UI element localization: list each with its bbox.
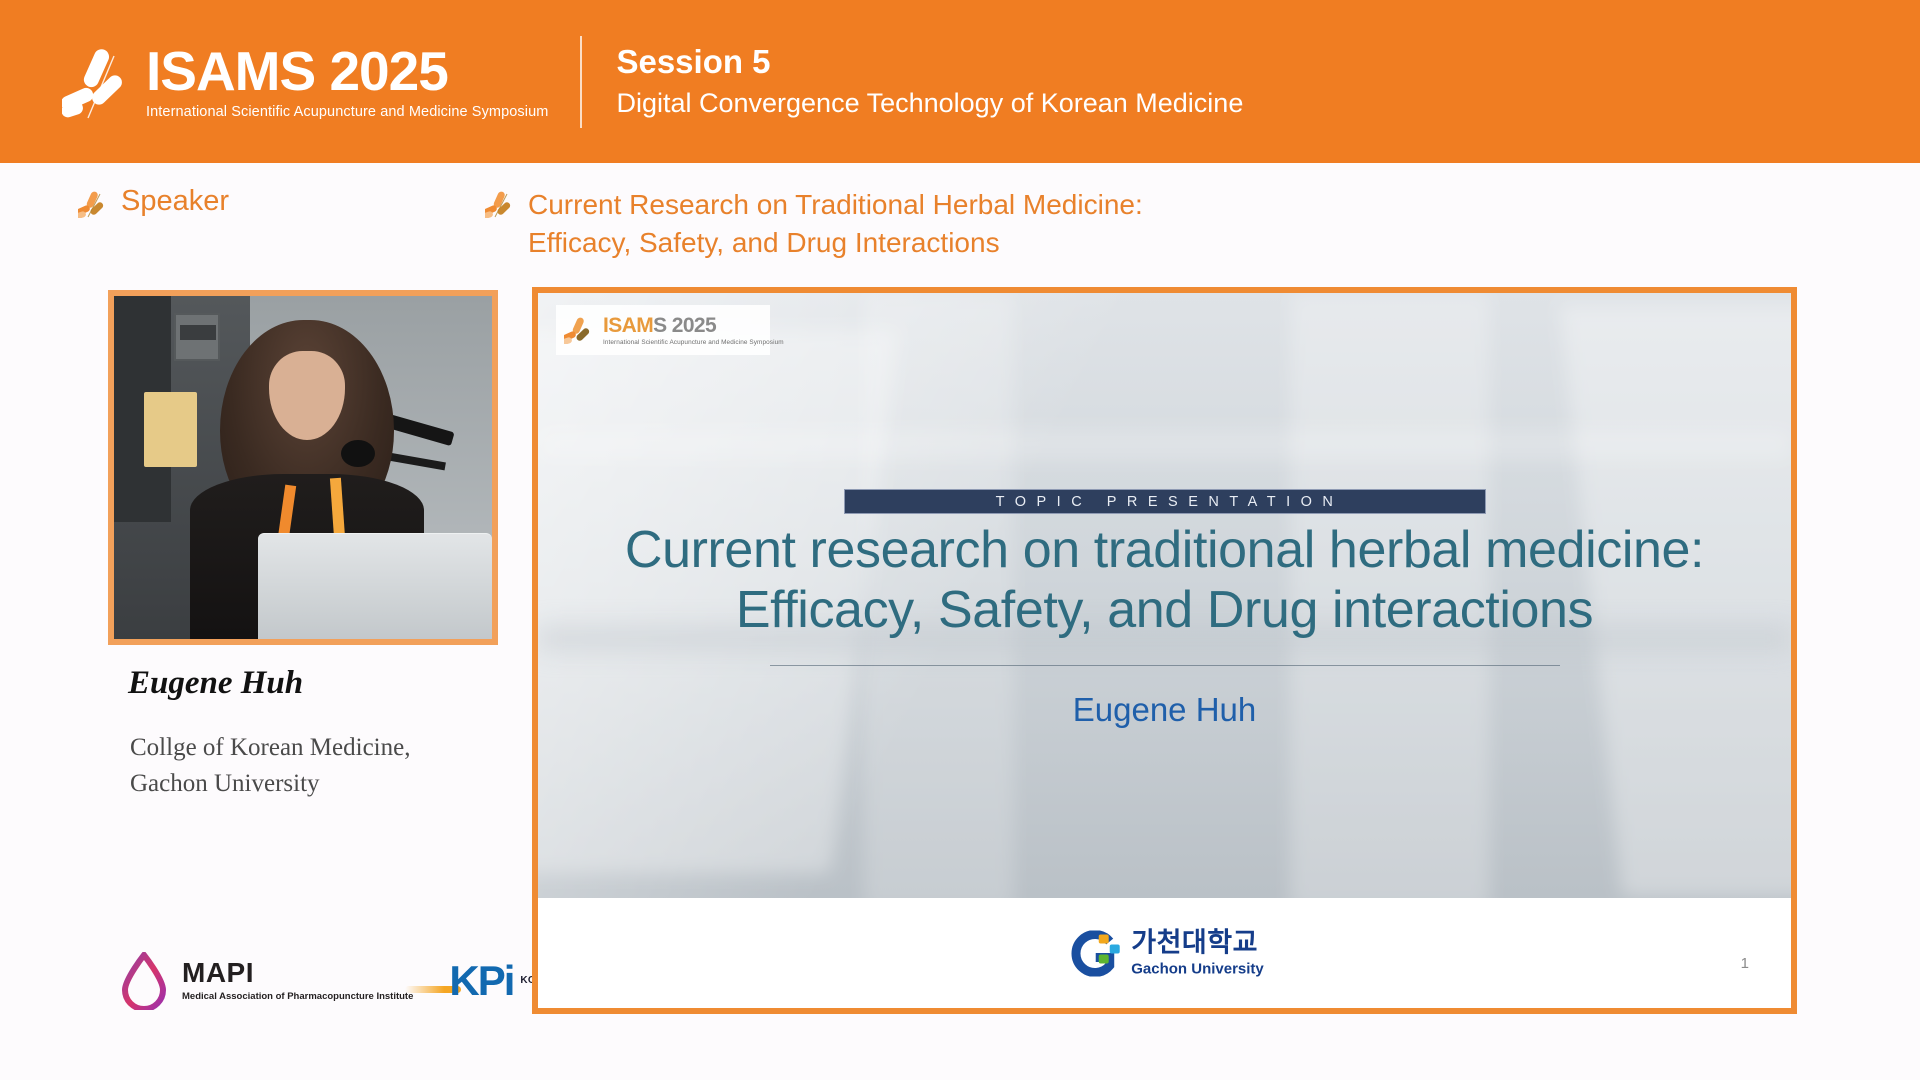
mapi-full-name: Medical Association of Pharmacopuncture … bbox=[182, 991, 413, 1003]
needle-bullet-icon bbox=[485, 190, 519, 218]
topic-presentation-banner: TOPIC PRESENTATION bbox=[844, 489, 1486, 514]
header-divider bbox=[580, 36, 582, 128]
isams-needle-logo-icon bbox=[62, 42, 140, 122]
speaker-name: Eugene Huh bbox=[128, 665, 303, 702]
slide-divider bbox=[770, 665, 1560, 666]
slide-title-line1: Current research on traditional herbal m… bbox=[575, 521, 1755, 581]
needle-bullet-icon bbox=[78, 190, 112, 218]
speaker-affiliation: Collge of Korean Medicine, Gachon Univer… bbox=[130, 730, 490, 801]
brand-subtitle: International Scientific Acupuncture and… bbox=[146, 104, 548, 120]
gachon-name-korean: 가천대학교 bbox=[1131, 930, 1264, 957]
speaker-photo-image bbox=[114, 296, 492, 639]
slide-logo-title-gray: S 2025 bbox=[653, 314, 716, 337]
kpi-acronym: KPi bbox=[449, 960, 513, 1002]
droplet-icon bbox=[118, 952, 170, 1010]
talk-title-text: Current Research on Traditional Herbal M… bbox=[528, 186, 1245, 261]
slide-background: ISAMS 2025 International Scientific Acup… bbox=[538, 293, 1791, 910]
isams-brand: ISAMS 2025 International Scientific Acup… bbox=[0, 42, 548, 122]
slide-logo-title-orange: ISAM bbox=[603, 314, 653, 337]
isams-needle-logo-icon bbox=[564, 316, 598, 344]
slide-title-line2: Efficacy, Safety, and Drug interactions bbox=[575, 581, 1755, 641]
brand-title: ISAMS 2025 bbox=[146, 44, 548, 99]
slide-author: Eugene Huh bbox=[715, 691, 1615, 729]
slide-logo-subtitle: International Scientific Acupuncture and… bbox=[603, 339, 784, 346]
gachon-name-english: Gachon University bbox=[1131, 962, 1264, 977]
page-header: ISAMS 2025 International Scientific Acup… bbox=[0, 0, 1920, 163]
session-block: Session 5 Digital Convergence Technology… bbox=[616, 43, 1243, 121]
talk-title-label: Current Research on Traditional Herbal M… bbox=[485, 186, 1245, 261]
speaker-label-text: Speaker bbox=[121, 186, 229, 217]
slide-page-number: 1 bbox=[1741, 955, 1749, 972]
gachon-g-icon bbox=[1065, 930, 1121, 976]
session-description: Digital Convergence Technology of Korean… bbox=[616, 87, 1243, 121]
gachon-university-logo: 가천대학교 Gachon University bbox=[1065, 930, 1264, 977]
mapi-logo: MAPI Medical Association of Pharmacopunc… bbox=[118, 952, 413, 1010]
session-name: Session 5 bbox=[616, 43, 1243, 81]
slide-isams-logo: ISAMS 2025 International Scientific Acup… bbox=[556, 305, 770, 355]
presentation-slide[interactable]: ISAMS 2025 International Scientific Acup… bbox=[532, 287, 1797, 1014]
mapi-acronym: MAPI bbox=[182, 959, 413, 987]
speaker-photo bbox=[108, 290, 498, 645]
speaker-section-label: Speaker bbox=[78, 186, 229, 218]
slide-title: Current research on traditional herbal m… bbox=[575, 521, 1755, 641]
slide-footer: 가천대학교 Gachon University 1 bbox=[538, 898, 1791, 1008]
